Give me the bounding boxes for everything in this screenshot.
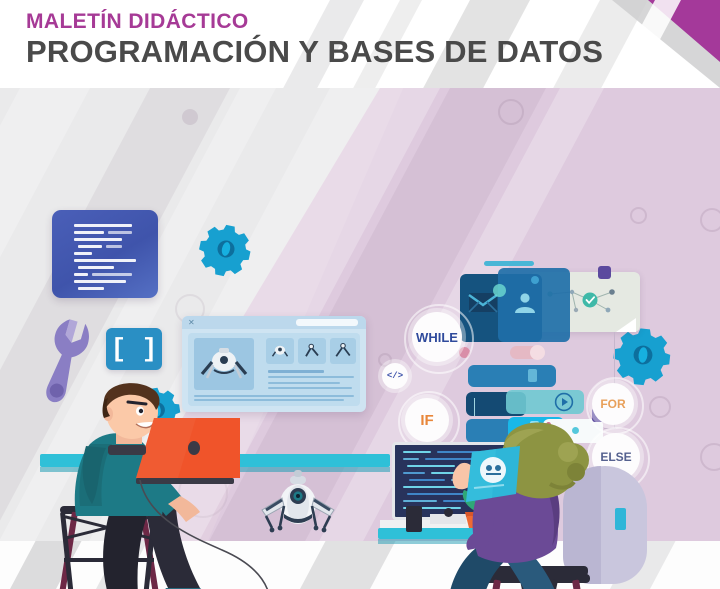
card-badge-icon[interactable] xyxy=(598,266,611,279)
poster-header: MALETÍN DIDÁCTICO PROGRAMACIÓN Y BASES D… xyxy=(0,0,720,88)
row-icon-chip xyxy=(528,369,537,382)
keyword-label: FOR xyxy=(600,397,625,411)
poster: MALETÍN DIDÁCTICO PROGRAMACIÓN Y BASES D… xyxy=(0,0,720,589)
robot-icon xyxy=(302,342,322,360)
keyword-bubble-for[interactable]: FOR xyxy=(592,383,634,425)
code-line xyxy=(108,231,132,234)
code-line xyxy=(74,273,88,276)
decor-ring-3 xyxy=(700,208,720,232)
tablet-icon[interactable] xyxy=(462,446,526,508)
decor-ring-5 xyxy=(649,396,671,418)
laptop-screen[interactable] xyxy=(136,418,242,482)
code-line xyxy=(74,238,122,241)
code-line xyxy=(78,266,114,269)
code-window-icon xyxy=(52,210,158,298)
browser-text-line xyxy=(268,382,340,384)
code-line xyxy=(74,252,92,255)
keyboard-icon[interactable] xyxy=(406,506,422,532)
code-line xyxy=(78,245,102,248)
poster-title: PROGRAMACIÓN Y BASES DE DATOS xyxy=(26,35,603,70)
monitor-code-line xyxy=(403,472,425,474)
keyword-label: IF xyxy=(420,412,433,429)
monitor-code-line xyxy=(403,458,419,460)
person-icon[interactable] xyxy=(512,290,538,314)
notification-dot xyxy=(493,284,506,297)
header-text-block: MALETÍN DIDÁCTICO PROGRAMACIÓN Y BASES D… xyxy=(26,10,603,70)
keyword-bubble-while[interactable]: WHILE xyxy=(412,312,462,362)
browser-text-line xyxy=(268,387,352,389)
robot-icon xyxy=(333,342,353,360)
keyword-label: WHILE xyxy=(416,330,458,345)
code-line xyxy=(74,224,132,227)
ui-list-row[interactable] xyxy=(468,365,556,387)
keyword-label: </> xyxy=(387,371,403,381)
browser-text-line xyxy=(268,370,324,373)
play-icon[interactable] xyxy=(554,392,574,412)
cable xyxy=(130,478,310,589)
code-line xyxy=(92,273,132,276)
monitor-code-line xyxy=(403,451,431,453)
brackets-label: [ ] xyxy=(111,334,158,364)
code-line xyxy=(74,280,126,283)
robot-icon xyxy=(200,346,248,384)
code-line xyxy=(74,259,136,262)
code-line xyxy=(106,245,122,248)
code-line xyxy=(78,287,104,290)
gear-icon xyxy=(198,221,254,277)
laptop-shadow xyxy=(108,445,146,455)
illustration-scene: [ ] </> xyxy=(0,88,720,589)
decor-ring-6 xyxy=(700,443,720,471)
decor-ring-1 xyxy=(498,99,524,125)
ui-card-topbar xyxy=(484,261,534,266)
gear-icon xyxy=(612,324,674,386)
keyword-bubble-code[interactable]: </> xyxy=(382,363,408,389)
browser-text-line xyxy=(268,376,354,378)
code-line xyxy=(74,231,104,234)
brackets-icon: [ ] xyxy=(106,328,162,370)
panel-corner-dot xyxy=(531,276,539,284)
toggle-knob[interactable] xyxy=(530,345,545,360)
browser-address-bar[interactable] xyxy=(296,319,358,326)
decor-dot-1 xyxy=(182,109,198,125)
robot-icon xyxy=(271,342,289,360)
close-icon[interactable]: ✕ xyxy=(188,319,195,326)
poster-eyebrow: MALETÍN DIDÁCTICO xyxy=(26,10,603,33)
card-fold xyxy=(616,318,636,332)
decor-ring-2 xyxy=(630,207,647,224)
connector-line xyxy=(474,398,475,416)
